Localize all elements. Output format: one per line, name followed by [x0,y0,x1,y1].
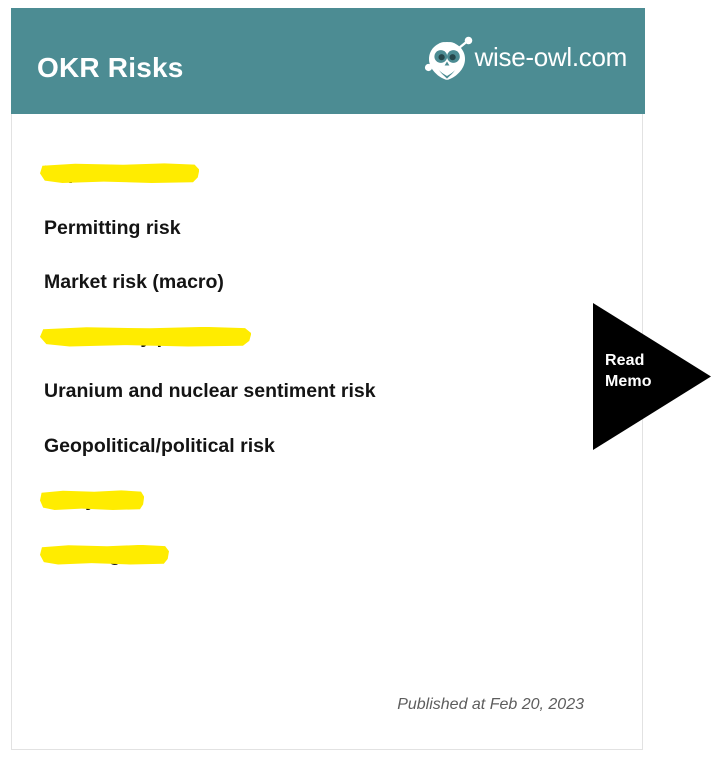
brand-name: wise-owl.com [475,44,627,72]
read-memo-line-2: Memo [605,371,667,392]
read-memo-button[interactable]: Read Memo [593,303,711,450]
risk-label: Market risk (macro) [44,271,224,293]
list-item: Commodity price risk [12,326,642,381]
list-item: Delay risk [12,489,642,544]
list-item: Uranium and nuclear sentiment risk [12,380,642,435]
highlight-marker [40,545,169,565]
risk-label: Permitting risk [44,217,181,239]
risk-label: Delay risk [44,489,136,511]
owl-logo-icon [424,36,474,80]
risk-label: Uranium and nuclear sentiment risk [44,380,376,402]
list-item: Permitting risk [12,217,642,272]
list-item: Funding risk [12,544,642,599]
risk-label: Funding risk [44,544,161,566]
risk-text: Permitting risk [44,217,181,239]
risk-text: Geopolitical/political risk [44,435,275,457]
highlight-marker [40,490,144,510]
read-memo-label: Read Memo [605,350,667,392]
highlight-marker [40,163,199,183]
risk-list: Exploration risk Permitting risk Market … [12,114,642,598]
card-header: OKR Risks [11,8,645,114]
risk-label: Exploration risk [44,162,191,184]
risk-label: Commodity price risk [44,326,243,348]
read-memo-line-1: Read [605,350,667,371]
brand-logo: wise-owl.com [424,36,627,80]
page-title: OKR Risks [37,52,184,84]
highlight-marker [40,327,251,347]
risk-text: Market risk (macro) [44,271,224,293]
list-item: Exploration risk [12,162,642,217]
published-note: Published at Feb 20, 2023 [397,696,584,714]
risk-label: Geopolitical/political risk [44,435,275,457]
risk-text: Uranium and nuclear sentiment risk [44,380,376,402]
list-item: Market risk (macro) [12,271,642,326]
okr-risks-card: OKR Risks [11,8,643,750]
list-item: Geopolitical/political risk [12,435,642,490]
